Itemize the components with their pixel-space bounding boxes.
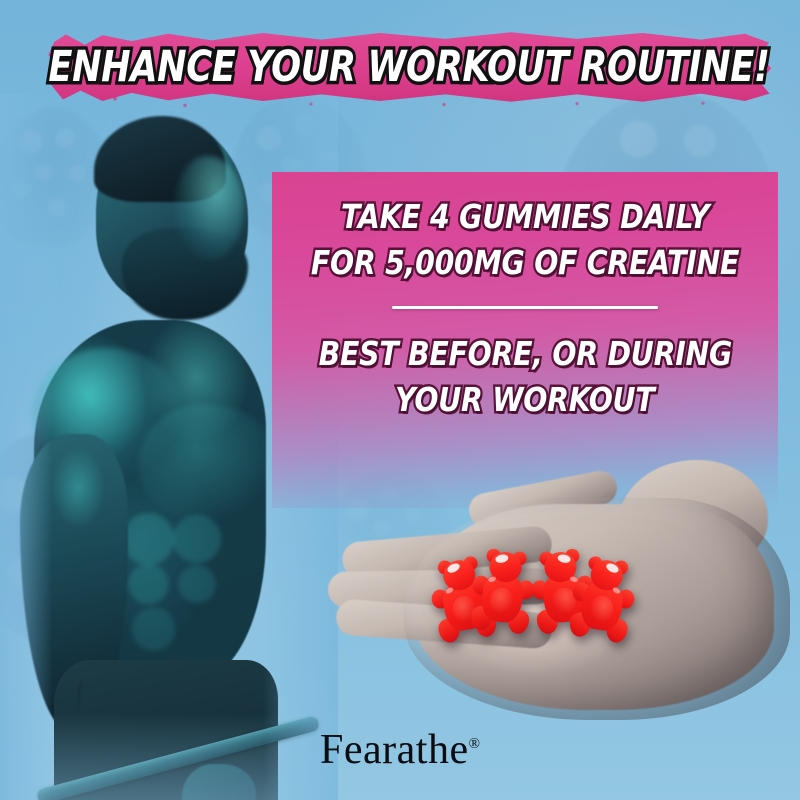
- athlete-face-highlight: [174, 156, 244, 260]
- panel-divider: [392, 306, 658, 309]
- gummy-bear-icon: [468, 547, 538, 635]
- gummy-bear-group: [428, 540, 638, 646]
- gummy-bear-icon: [566, 554, 640, 645]
- instructions-content: TAKE 4 GUMMIES DAILY FOR 5,000MG OF CREA…: [272, 194, 778, 423]
- dosage-line-2: FOR 5,000MG OF CREATINE: [311, 240, 739, 286]
- headline-text: ENHANCE YOUR WORKOUT ROUTINE!: [110, 30, 709, 104]
- brand-name: Fearathe: [320, 727, 469, 773]
- dosage-line-1: TAKE 4 GUMMIES DAILY: [341, 194, 709, 240]
- ad-creative: ENHANCE YOUR WORKOUT ROUTINE! TAKE 4 GUM…: [0, 0, 800, 800]
- headline-banner: ENHANCE YOUR WORKOUT ROUTINE!: [44, 30, 774, 104]
- registered-trademark-icon: ®: [469, 736, 480, 752]
- timing-line-2: YOUR WORKOUT: [395, 377, 654, 423]
- athlete-abs: [110, 512, 238, 662]
- hand-photo: [318, 452, 800, 742]
- athlete-chest: [138, 404, 278, 524]
- brand-logo: Fearathe®: [0, 726, 800, 774]
- timing-line-1: BEST BEFORE, OR DURING: [318, 331, 731, 377]
